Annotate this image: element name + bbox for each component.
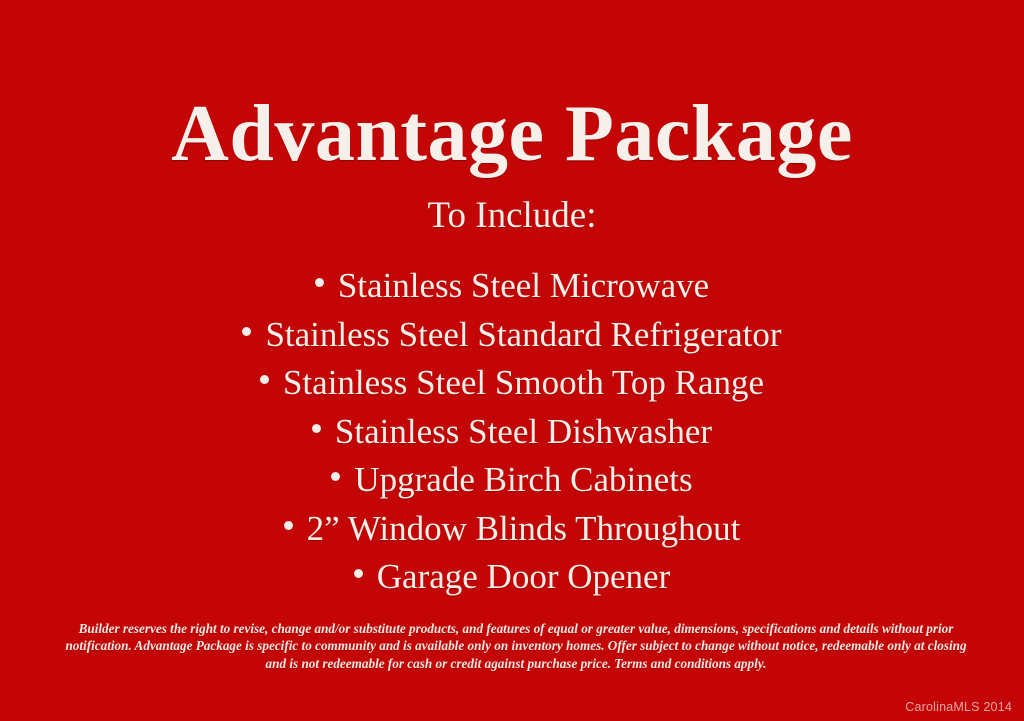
bullet-dot-icon xyxy=(354,569,363,578)
feature-label: Stainless Steel Dishwasher xyxy=(335,412,712,451)
bullet-dot-icon xyxy=(284,521,293,530)
feature-list-item: Stainless Steel Standard Refrigerator xyxy=(0,311,1024,360)
feature-list-item: 2” Window Blinds Throughout xyxy=(0,505,1024,554)
feature-label: Stainless Steel Microwave xyxy=(338,266,709,305)
feature-label: Stainless Steel Smooth Top Range xyxy=(283,363,764,402)
feature-list-item: Upgrade Birch Cabinets xyxy=(0,456,1024,505)
feature-list-item: Stainless Steel Microwave xyxy=(0,262,1024,311)
feature-label: Garage Door Opener xyxy=(377,557,670,596)
bullet-dot-icon xyxy=(242,327,251,336)
bullet-dot-icon xyxy=(260,375,269,384)
feature-label: 2” Window Blinds Throughout xyxy=(307,509,741,548)
carolinamls-watermark: CarolinaMLS 2014 xyxy=(905,700,1012,714)
feature-list-item: Stainless Steel Smooth Top Range xyxy=(0,359,1024,408)
bullet-dot-icon xyxy=(315,278,324,287)
bullet-dot-icon xyxy=(312,424,321,433)
subtitle: To Include: xyxy=(0,194,1024,238)
feature-list: Stainless Steel MicrowaveStainless Steel… xyxy=(0,262,1024,602)
feature-label: Stainless Steel Standard Refrigerator xyxy=(265,315,781,354)
feature-list-item: Garage Door Opener xyxy=(0,553,1024,602)
page-title: Advantage Package xyxy=(0,88,1024,180)
bullet-dot-icon xyxy=(331,472,340,481)
advantage-package-flyer: Advantage Package To Include: Stainless … xyxy=(0,0,1024,721)
feature-label: Upgrade Birch Cabinets xyxy=(354,460,692,499)
disclaimer-text: Builder reserves the right to revise, ch… xyxy=(58,620,974,672)
feature-list-item: Stainless Steel Dishwasher xyxy=(0,408,1024,457)
